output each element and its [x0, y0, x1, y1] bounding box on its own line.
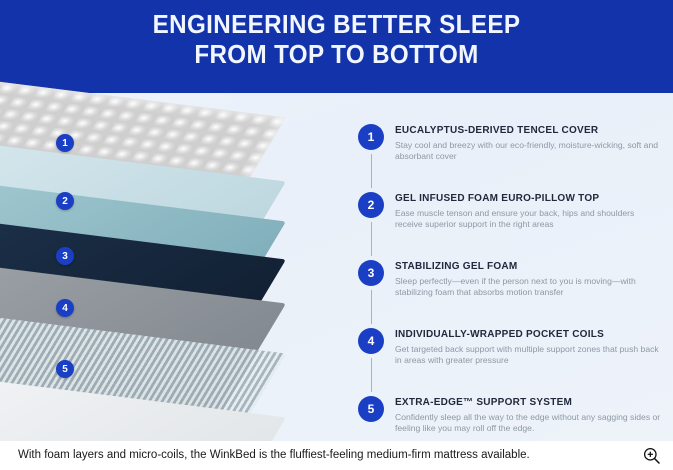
layer-1-description: Stay cool and breezy with our eco-friend… [395, 140, 663, 163]
layer-3-description: Sleep perfectly—even if the person next … [395, 276, 663, 299]
mattress-badge-4: 4 [56, 299, 74, 317]
connector-line-3 [371, 290, 373, 324]
layer-list-item-4: 4 INDIVIDUALLY-WRAPPED POCKET COILS Get … [355, 328, 665, 396]
list-badge-3: 3 [358, 260, 384, 286]
list-badge-2: 2 [358, 192, 384, 218]
zoom-in-icon[interactable] [642, 446, 661, 465]
layer-list-item-2: 2 GEL INFUSED FOAM EURO-PILLOW TOP Ease … [355, 192, 665, 260]
layer-list-item-1: 1 EUCALYPTUS-DERIVED TENCEL COVER Stay c… [355, 124, 665, 192]
layer-2-heading: GEL INFUSED FOAM EURO-PILLOW TOP [395, 192, 663, 205]
layer-4-heading: INDIVIDUALLY-WRAPPED POCKET COILS [395, 328, 663, 341]
infographic-screenshot: ENGINEERING BETTER SLEEP FROM TOP TO BOT… [0, 0, 673, 470]
layer-list-item-3: 3 STABILIZING GEL FOAM Sleep perfectly—e… [355, 260, 665, 328]
caption-bar: With foam layers and micro-coils, the Wi… [0, 441, 673, 470]
layer-5-text: EXTRA-EDGE™ SUPPORT SYSTEM Confidently s… [395, 396, 663, 435]
layer-1-text: EUCALYPTUS-DERIVED TENCEL COVER Stay coo… [395, 124, 663, 163]
list-badge-1: 1 [358, 124, 384, 150]
title-line-2: FROM TOP TO BOTTOM [24, 39, 650, 69]
title-line-1: ENGINEERING BETTER SLEEP [153, 9, 521, 39]
mattress-badge-3: 3 [56, 247, 74, 265]
layer-2-description: Ease muscle tenson and ensure your back,… [395, 208, 663, 231]
list-badge-5: 5 [358, 396, 384, 422]
layer-3-text: STABILIZING GEL FOAM Sleep perfectly—eve… [395, 260, 663, 299]
connector-line-4 [371, 358, 373, 392]
layer-4-description: Get targeted back support with multiple … [395, 344, 663, 367]
mattress-badge-5: 5 [56, 360, 74, 378]
layer-2-text: GEL INFUSED FOAM EURO-PILLOW TOP Ease mu… [395, 192, 663, 231]
infographic-card: ENGINEERING BETTER SLEEP FROM TOP TO BOT… [0, 0, 673, 441]
connector-line-1 [371, 154, 373, 188]
layer-5-description: Confidently sleep all the way to the edg… [395, 412, 663, 435]
caption-text: With foam layers and micro-coils, the Wi… [18, 448, 530, 463]
layer-1-heading: EUCALYPTUS-DERIVED TENCEL COVER [395, 124, 663, 137]
layer-5-heading: EXTRA-EDGE™ SUPPORT SYSTEM [395, 396, 663, 409]
layer-3-heading: STABILIZING GEL FOAM [395, 260, 663, 273]
mattress-badge-2: 2 [56, 192, 74, 210]
layer-list: 1 EUCALYPTUS-DERIVED TENCEL COVER Stay c… [355, 124, 665, 396]
connector-line-2 [371, 222, 373, 256]
mattress-badge-1: 1 [56, 134, 74, 152]
list-badge-4: 4 [358, 328, 384, 354]
mattress-illustration: 1 2 3 4 5 [0, 80, 346, 441]
page-title: ENGINEERING BETTER SLEEP FROM TOP TO BOT… [24, 9, 650, 69]
layer-4-text: INDIVIDUALLY-WRAPPED POCKET COILS Get ta… [395, 328, 663, 367]
